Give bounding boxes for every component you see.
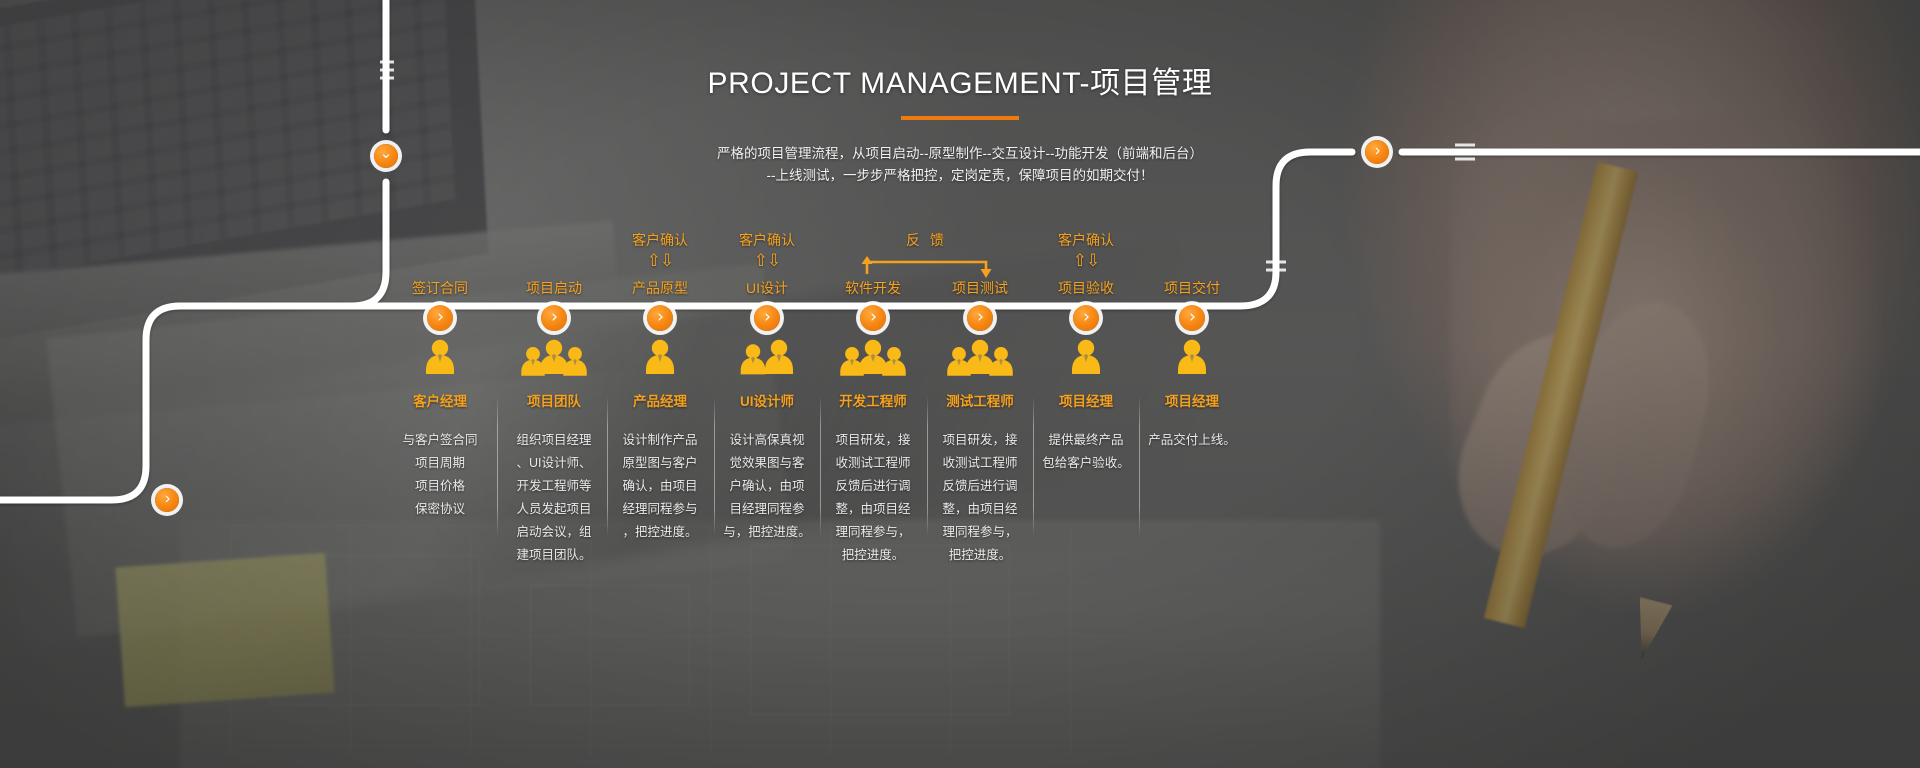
single-person-icon [608,336,712,384]
desc-line: ，把控进度。 [608,521,712,544]
column-divider [714,396,715,536]
desc-line: 组织项目经理 [502,429,606,452]
desc-line: 理同程参与， [928,521,1032,544]
step-column-8: 项目经理产品交付上线。 [1140,336,1244,452]
desc-line: 产品交付上线。 [1140,429,1244,452]
role-label-6: 测试工程师 [928,390,1032,410]
desc-line: 建项目团队。 [502,544,606,567]
column-divider [607,396,608,536]
desc-line: 收测试工程师 [928,452,1032,475]
step-column-2: 项目团队组织项目经理、UI设计师、开发工程师等人员发起项目启动会议，组建项目团队… [502,336,606,567]
title-separator: - [1079,67,1090,100]
role-label-2: 项目团队 [502,390,606,410]
confirm-text: 客户确认 [1058,232,1114,248]
desc-line: 经理同程参与 [608,498,712,521]
timeline-node-8[interactable] [1179,305,1205,331]
step-description-1: 与客户签合同项目周期项目价格保密协议 [388,429,492,521]
step-description-6: 项目研发，接收测试工程师反馈后进行调整，由项目经理同程参与，把控进度。 [928,429,1032,567]
desc-line: 与，把控进度。 [715,521,819,544]
desc-line: 理同程参与， [821,521,925,544]
timeline-node-2[interactable] [541,305,567,331]
confirm-text: 客户确认 [739,232,795,248]
role-label-1: 客户经理 [388,390,492,410]
connector-node-right[interactable] [1365,140,1389,164]
up-down-arrows-icon: ⇧⇩ [687,252,847,270]
customer-confirm-badge-7: 客户确认⇧⇩ [1006,230,1166,270]
desc-line: 项目周期 [388,452,492,475]
desc-line: 觉效果图与客 [715,452,819,475]
column-divider [497,396,498,536]
desc-line: 户确认，由项 [715,475,819,498]
role-label-4: UI设计师 [715,390,819,410]
up-down-arrows-icon: ⇧⇩ [1006,252,1166,270]
subtitle-line-1: 严格的项目管理流程，从项目启动--原型制作--交互设计--功能开发（前端和后台） [510,143,1410,165]
desc-line: 设计高保真视 [715,429,819,452]
title-underline-rule [901,116,1019,120]
step-column-1: 客户经理与客户签合同项目周期项目价格保密协议 [388,336,492,521]
timeline-node-5[interactable] [860,305,886,331]
timeline-node-1[interactable] [427,305,453,331]
timeline-node-3[interactable] [647,305,673,331]
feedback-double-arrow-icon [859,254,994,280]
timeline-node-7[interactable] [1073,305,1099,331]
desc-line: 确认，由项目 [608,475,712,498]
single-person-icon [1140,336,1244,384]
confirm-text: 客户确认 [632,232,688,248]
column-divider [1139,396,1140,536]
desc-line: 原型图与客户 [608,452,712,475]
column-divider [927,396,928,536]
desc-line: 启动会议，组 [502,521,606,544]
step-description-8: 产品交付上线。 [1140,429,1244,452]
desc-line: 提供最终产品 [1034,429,1138,452]
group-three-person-icon [502,336,606,384]
role-label-8: 项目经理 [1140,390,1244,410]
desc-line: 反馈后进行调 [821,475,925,498]
title-english: PROJECT MANAGEMENT [708,67,1080,100]
timeline-node-4[interactable] [754,305,780,331]
desc-line: 反馈后进行调 [928,475,1032,498]
desc-line: 与客户签合同 [388,429,492,452]
column-divider [820,396,821,536]
desc-line: 目经理同程参 [715,498,819,521]
desc-line: 整，由项目经 [928,498,1032,521]
connector-node-bottom-left[interactable] [155,488,179,512]
two-person-icon [715,336,819,384]
subtitle-line-2: --上线测试，一步步严格把控，定岗定责，保障项目的如期交付！ [510,165,1410,187]
step-description-7: 提供最终产品包给客户验收。 [1034,429,1138,475]
timeline-node-6[interactable] [967,305,993,331]
feedback-label: 反 馈 [857,230,997,250]
title-chinese: 项目管理 [1090,67,1212,100]
desc-line: 开发工程师等 [502,475,606,498]
column-divider [1033,396,1034,536]
desc-line: 项目价格 [388,475,492,498]
role-label-5: 开发工程师 [821,390,925,410]
desc-line: 设计制作产品 [608,429,712,452]
step-column-4: UI设计师设计高保真视觉效果图与客户确认，由项目经理同程参与，把控进度。 [715,336,819,544]
desc-line: 把控进度。 [821,544,925,567]
group-three-person-icon [928,336,1032,384]
desc-line: 、UI设计师、 [502,452,606,475]
customer-confirm-badge-4: 客户确认⇧⇩ [687,230,847,270]
step-column-7: 项目经理提供最终产品包给客户验收。 [1034,336,1138,475]
role-label-3: 产品经理 [608,390,712,410]
desc-line: 把控进度。 [928,544,1032,567]
desc-line: 收测试工程师 [821,452,925,475]
step-column-5: 开发工程师项目研发，接收测试工程师反馈后进行调整，由项目经理同程参与，把控进度。 [821,336,925,567]
group-three-person-icon [821,336,925,384]
step-description-2: 组织项目经理、UI设计师、开发工程师等人员发起项目启动会议，组建项目团队。 [502,429,606,567]
desc-line: 项目研发，接 [821,429,925,452]
desc-line: 人员发起项目 [502,498,606,521]
single-person-icon [388,336,492,384]
desc-line: 整，由项目经 [821,498,925,521]
page-subtitle: 严格的项目管理流程，从项目启动--原型制作--交互设计--功能开发（前端和后台）… [510,143,1410,187]
page-title: PROJECT MANAGEMENT-项目管理 [0,58,1920,102]
single-person-icon [1034,336,1138,384]
desc-line: 包给客户验收。 [1034,452,1138,475]
role-label-7: 项目经理 [1034,390,1138,410]
step-label-8: 项目交付 [1112,278,1272,298]
step-column-3: 产品经理设计制作产品原型图与客户确认，由项目经理同程参与，把控进度。 [608,336,712,544]
step-description-4: 设计高保真视觉效果图与客户确认，由项目经理同程参与，把控进度。 [715,429,819,544]
connector-node-top[interactable] [374,144,398,168]
desc-line: 项目研发，接 [928,429,1032,452]
step-description-5: 项目研发，接收测试工程师反馈后进行调整，由项目经理同程参与，把控进度。 [821,429,925,567]
step-column-6: 测试工程师项目研发，接收测试工程师反馈后进行调整，由项目经理同程参与，把控进度。 [928,336,1032,567]
step-description-3: 设计制作产品原型图与客户确认，由项目经理同程参与，把控进度。 [608,429,712,544]
desc-line: 保密协议 [388,498,492,521]
